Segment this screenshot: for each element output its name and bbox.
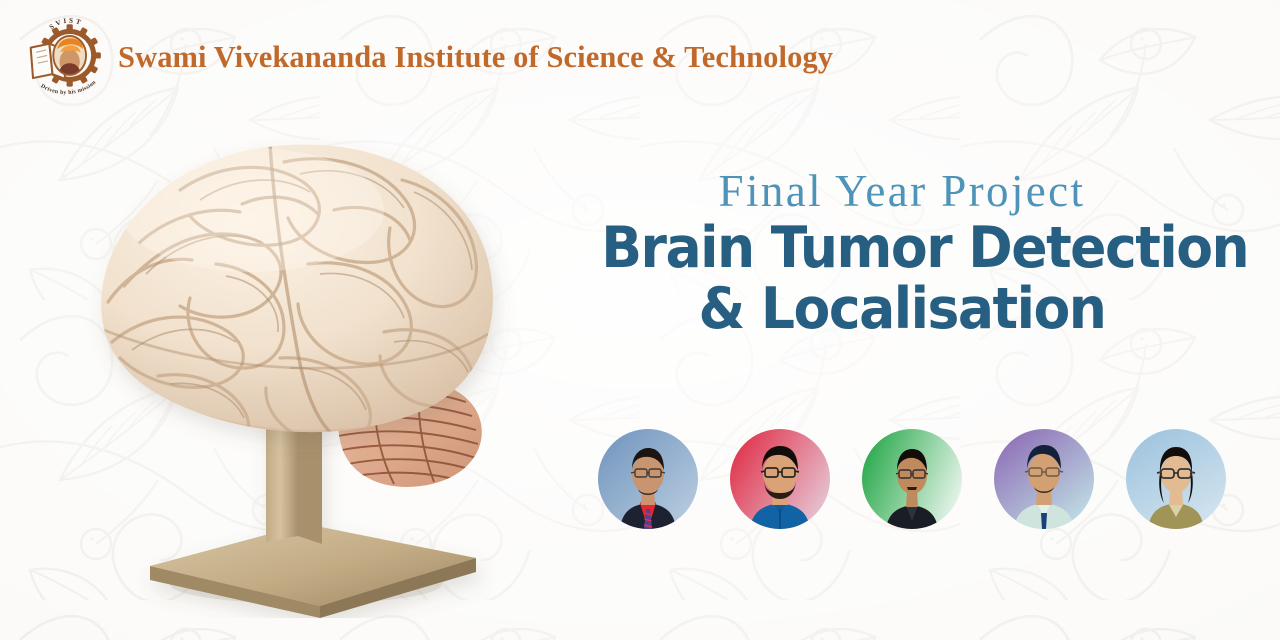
- svist-gear-emblem-logo: SVIST Driven by his mission: [26, 18, 104, 96]
- project-eyebrow-label: Final Year Project: [582, 168, 1222, 215]
- project-banner: SVIST Driven by his mission Swami Viveka…: [0, 0, 1280, 640]
- brand-lockup: SVIST Driven by his mission Swami Viveka…: [26, 18, 833, 96]
- project-title-line-2: & Localisation: [601, 280, 1203, 339]
- project-title-line-1: Brain Tumor Detection: [601, 219, 1203, 278]
- team-member-avatar[interactable]: [598, 429, 698, 529]
- team-avatar-strip: [598, 427, 1234, 531]
- anatomical-brain-model-on-stand: [84, 118, 544, 618]
- project-title-block: Final Year Project Brain Tumor Detection…: [582, 168, 1222, 339]
- team-member-avatar[interactable]: [1126, 429, 1226, 529]
- team-member-avatar[interactable]: [862, 429, 962, 529]
- team-member-avatar[interactable]: [994, 429, 1094, 529]
- institute-name: Swami Vivekananda Institute of Science &…: [118, 42, 833, 73]
- team-member-avatar[interactable]: [730, 429, 830, 529]
